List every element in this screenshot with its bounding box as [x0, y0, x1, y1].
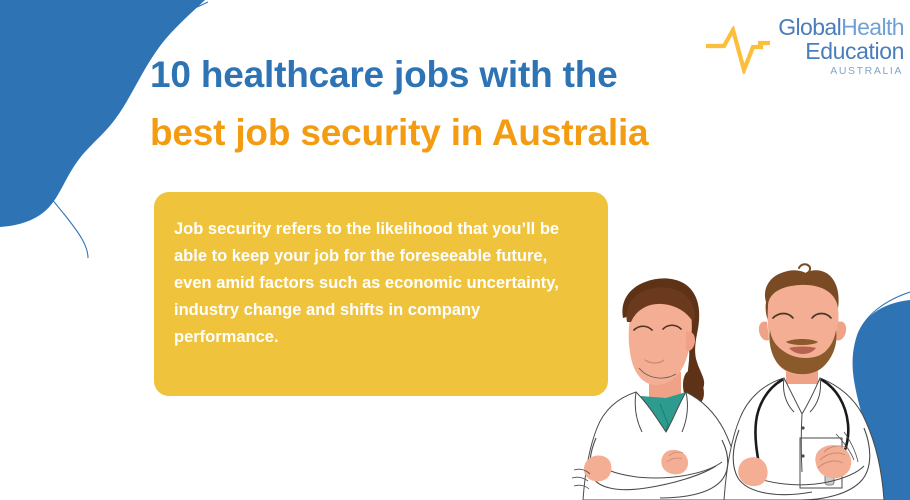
male-coat-button-1 — [801, 426, 804, 429]
logo-word-health: Health — [841, 14, 904, 40]
brand-logo[interactable]: GlobalHealth Education AUSTRALIA — [706, 16, 904, 77]
logo-line-globalhealth: GlobalHealth — [778, 16, 904, 39]
logo-wordmark: GlobalHealth Education AUSTRALIA — [778, 16, 904, 77]
male-doctor — [724, 264, 884, 500]
definition-callout-text: Job security refers to the likelihood th… — [174, 216, 580, 351]
logo-word-australia: AUSTRALIA — [830, 66, 903, 77]
definition-callout-box: Job security refers to the likelihood th… — [154, 192, 608, 396]
logo-word-education: Education — [805, 40, 904, 63]
logo-word-global: Global — [778, 14, 841, 40]
male-ear-left — [759, 321, 769, 340]
page-title: 10 healthcare jobs with the best job sec… — [150, 46, 770, 162]
ecg-heartbeat-icon — [706, 26, 774, 74]
title-line-secondary: best job security in Australia — [150, 104, 770, 162]
male-hand-left — [738, 457, 767, 486]
title-line-primary: 10 healthcare jobs with the — [150, 46, 770, 104]
male-coat-button-2 — [801, 454, 804, 457]
poster-canvas: 10 healthcare jobs with the best job sec… — [0, 0, 910, 500]
